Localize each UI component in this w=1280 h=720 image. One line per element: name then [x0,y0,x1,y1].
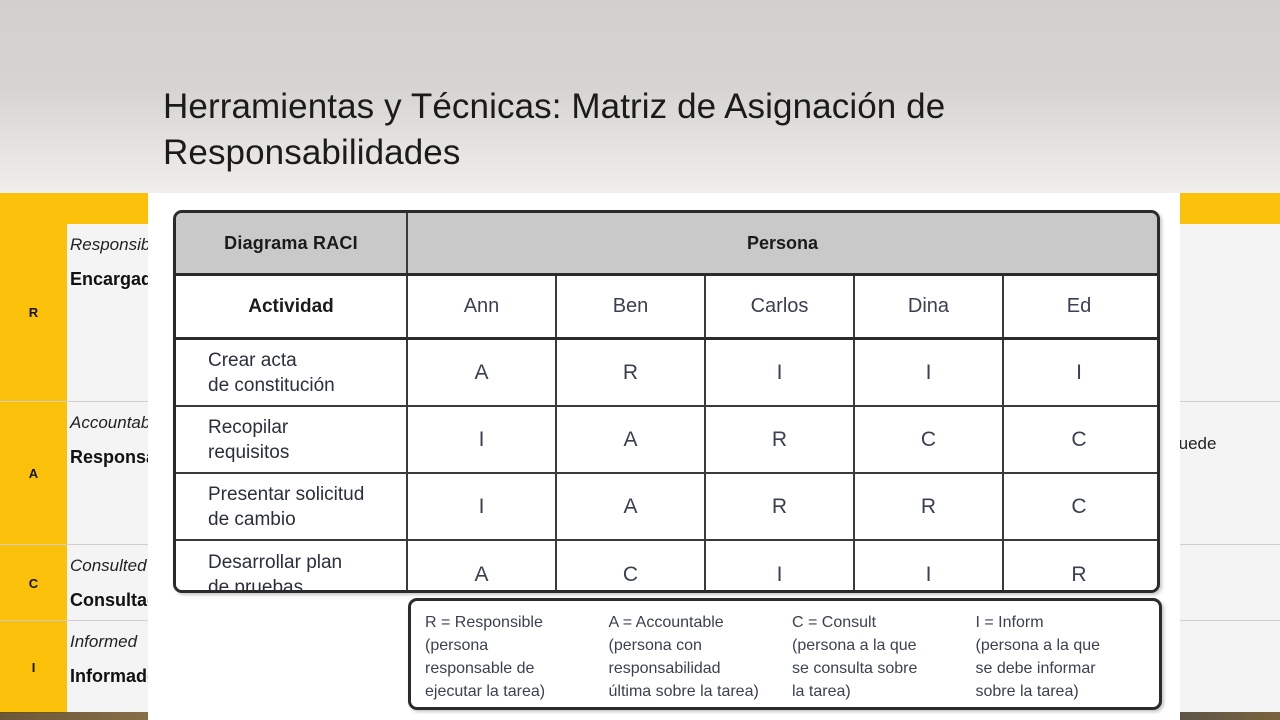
slide-canvas: Herramientas y Técnicas: Matriz de Asign… [0,0,1280,720]
raci-key-c: C [0,545,67,621]
raci-mark: I [1004,340,1154,405]
task-name: Recopilar requisitos [176,407,408,472]
raci-mark: A [408,541,557,593]
raci-mark: C [1004,407,1154,472]
raci-matrix-table: Diagrama RACI Persona Actividad Ann Ben … [173,210,1160,593]
legend-item-accountable: A = Accountable (persona con responsabil… [609,611,793,707]
raci-mark: A [557,474,706,539]
raci-mark: C [855,407,1004,472]
header-person-ann: Ann [408,276,557,337]
raci-mark: R [855,474,1004,539]
task-name: Crear acta de constitución [176,340,408,405]
accent-bar-right [1180,193,1280,224]
raci-key-a: A [0,402,67,545]
raci-mark: C [1004,474,1154,539]
raci-mark: I [408,474,557,539]
raci-key-r: R [0,224,67,401]
raci-mark: I [706,340,855,405]
table-row: Presentar solicitud de cambio I A R R C [176,474,1157,541]
raci-mark: R [706,407,855,472]
raci-mark: R [1004,541,1154,593]
header-diagrama-raci: Diagrama RACI [176,213,408,273]
page-title: Herramientas y Técnicas: Matriz de Asign… [163,84,1123,176]
legend-item-responsible: R = Responsible (persona responsable de … [425,611,609,707]
table-header-group-row: Diagrama RACI Persona [176,213,1157,276]
task-name: Presentar solicitud de cambio [176,474,408,539]
raci-mark: C [557,541,706,593]
table-row: Desarrollar plan de pruebas A C I I R [176,541,1157,593]
raci-matrix-image: Diagrama RACI Persona Actividad Ann Ben … [148,193,1180,720]
raci-mark: I [855,541,1004,593]
header-persona: Persona [408,213,1157,273]
raci-legend-box: R = Responsible (persona responsable de … [408,598,1162,710]
header-person-ben: Ben [557,276,706,337]
task-name: Desarrollar plan de pruebas [176,541,408,593]
header-person-dina: Dina [855,276,1004,337]
header-person-carlos: Carlos [706,276,855,337]
legend-item-inform: I = Inform (persona a la que se debe inf… [976,611,1160,707]
header-actividad: Actividad [176,276,408,337]
table-row: Recopilar requisitos I A R C C [176,407,1157,474]
table-row: Crear acta de constitución A R I I I [176,340,1157,407]
raci-mark: I [706,541,855,593]
raci-mark: R [706,474,855,539]
table-header-row: Actividad Ann Ben Carlos Dina Ed [176,276,1157,340]
legend-item-consult: C = Consult (persona a la que se consult… [792,611,976,707]
raci-mark: A [408,340,557,405]
raci-mark: I [408,407,557,472]
header-person-ed: Ed [1004,276,1154,337]
raci-mark: R [557,340,706,405]
accent-bar-left [0,193,148,224]
raci-mark: I [855,340,1004,405]
raci-key-i: I [0,621,67,713]
raci-mark: A [557,407,706,472]
